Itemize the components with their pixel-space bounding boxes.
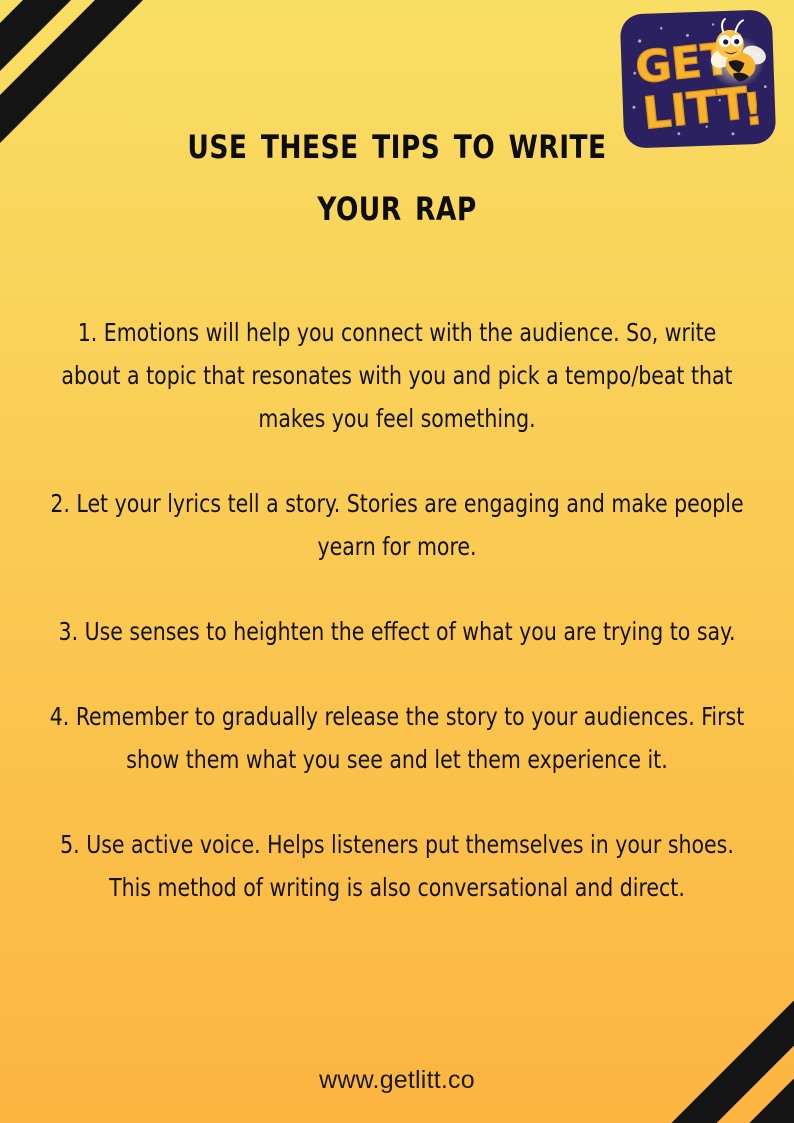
tip-item: 5. Use active voice. Helps listeners put… [48, 823, 746, 909]
tip-item: 2. Let your lyrics tell a story. Stories… [48, 482, 746, 568]
footer: www.getlitt.co [0, 1066, 794, 1095]
getlitt-logo[interactable]: GET LITT ! [619, 9, 777, 149]
website-url[interactable]: www.getlitt.co [319, 1066, 475, 1094]
poster-canvas: GET LITT ! [0, 0, 794, 1123]
page-title-line-2: Your Rap [48, 174, 745, 236]
corner-stripe-bottom-right-outer [672, 967, 794, 1123]
tip-item: 1. Emotions will help you connect with t… [48, 311, 746, 440]
tip-item: 4. Remember to gradually release the sto… [48, 695, 746, 781]
corner-stripe-bottom-right-inner [594, 967, 794, 1123]
tips-list: 1. Emotions will help you connect with t… [0, 286, 794, 909]
tip-item: 3. Use senses to heighten the effect of … [48, 610, 746, 653]
